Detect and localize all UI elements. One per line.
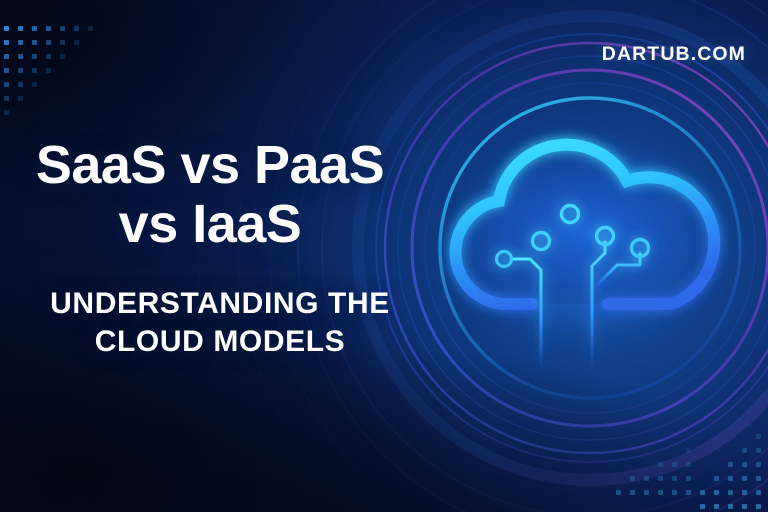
- decorative-dot: [672, 462, 677, 467]
- decorative-dot: [630, 476, 635, 481]
- decorative-dot: [60, 54, 65, 59]
- decorative-dot: [46, 68, 51, 73]
- decorative-dot: [32, 82, 37, 87]
- decorative-dot: [728, 490, 733, 495]
- decorative-dot: [60, 40, 65, 45]
- decorative-dot: [74, 40, 79, 45]
- decorative-dot: [756, 476, 761, 481]
- decorative-dot: [32, 68, 37, 73]
- decorative-dot: [32, 54, 37, 59]
- decorative-dot: [88, 26, 93, 31]
- decorative-dot: [728, 462, 733, 467]
- decorative-dot: [742, 462, 747, 467]
- decorative-dot: [658, 476, 663, 481]
- decorative-dot: [46, 40, 51, 45]
- decorative-dot: [4, 110, 9, 115]
- decorative-dot: [18, 96, 23, 101]
- page-subtitle-line-1: UNDERSTANDING THE: [0, 285, 440, 323]
- decorative-dot: [46, 54, 51, 59]
- decorative-dot: [672, 476, 677, 481]
- decorative-dot: [686, 476, 691, 481]
- cloud-circuit-icon: [440, 120, 730, 370]
- decorative-dot: [658, 490, 663, 495]
- decorative-dot: [756, 504, 761, 509]
- decorative-dot: [672, 490, 677, 495]
- decorative-dot: [32, 40, 37, 45]
- decorative-dot: [4, 82, 9, 87]
- decorative-dot: [742, 490, 747, 495]
- decorative-dot: [658, 462, 663, 467]
- decorative-dot: [728, 504, 733, 509]
- page-subtitle: UNDERSTANDING THE CLOUD MODELS: [0, 285, 440, 361]
- promo-banner: DARTUB.COM SaaS vs PaaS vs IaaS UNDERSTA…: [0, 0, 768, 512]
- dot-grid-top-left: [4, 26, 124, 146]
- decorative-dot: [4, 40, 9, 45]
- decorative-dot: [18, 82, 23, 87]
- decorative-dot: [630, 490, 635, 495]
- decorative-dot: [728, 476, 733, 481]
- decorative-dot: [742, 476, 747, 481]
- decorative-dot: [4, 26, 9, 31]
- decorative-dot: [756, 434, 761, 439]
- decorative-dot: [18, 40, 23, 45]
- decorative-dot: [46, 26, 51, 31]
- decorative-dot: [18, 68, 23, 73]
- decorative-dot: [18, 26, 23, 31]
- decorative-dot: [644, 490, 649, 495]
- decorative-dot: [4, 96, 9, 101]
- decorative-dot: [616, 490, 621, 495]
- decorative-dot: [742, 504, 747, 509]
- page-title: SaaS vs PaaS vs IaaS: [0, 136, 420, 254]
- decorative-dot: [686, 448, 691, 453]
- site-logo-text: DARTUB.COM: [602, 43, 746, 66]
- page-subtitle-line-2: CLOUD MODELS: [0, 323, 440, 361]
- page-title-line-1: SaaS vs PaaS: [0, 136, 420, 195]
- decorative-dot: [756, 490, 761, 495]
- decorative-dot: [32, 26, 37, 31]
- decorative-dot: [686, 462, 691, 467]
- decorative-dot: [18, 54, 23, 59]
- decorative-dot: [742, 448, 747, 453]
- decorative-dot: [644, 476, 649, 481]
- decorative-dot: [756, 448, 761, 453]
- decorative-dot: [686, 490, 691, 495]
- dot-grid-bottom-right-extension: [616, 448, 716, 512]
- decorative-dot: [74, 26, 79, 31]
- decorative-dot: [756, 462, 761, 467]
- decorative-dot: [4, 68, 9, 73]
- decorative-dot: [4, 54, 9, 59]
- page-title-line-2: vs IaaS: [0, 195, 420, 254]
- decorative-dot: [60, 26, 65, 31]
